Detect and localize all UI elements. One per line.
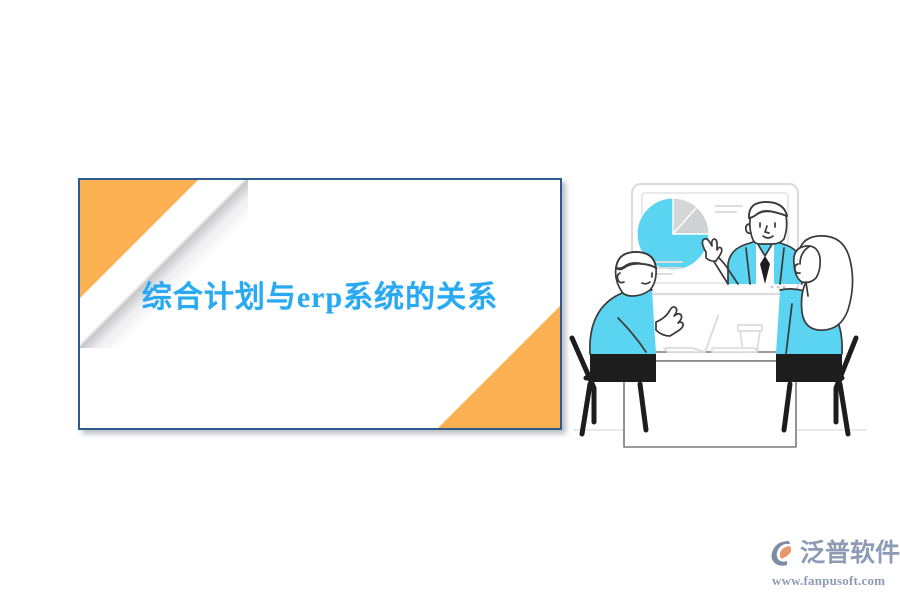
video-conference-illustration [560, 172, 880, 472]
fanpu-logo-mark-icon [768, 538, 798, 568]
corner-wedge-bottom-right-icon [438, 306, 560, 428]
title-banner-card: 综合计划与erp系统的关系 [78, 178, 562, 430]
paper-icon [712, 348, 756, 352]
page-title: 综合计划与erp系统的关系 [80, 272, 560, 316]
page-canvas: 综合计划与erp系统的关系 [0, 0, 900, 600]
brand-name: 泛普软件 [800, 541, 900, 566]
brand-logo: 泛普软件 www.fanpusoft.com [768, 536, 892, 590]
brand-url: www.fanpusoft.com [772, 573, 892, 589]
